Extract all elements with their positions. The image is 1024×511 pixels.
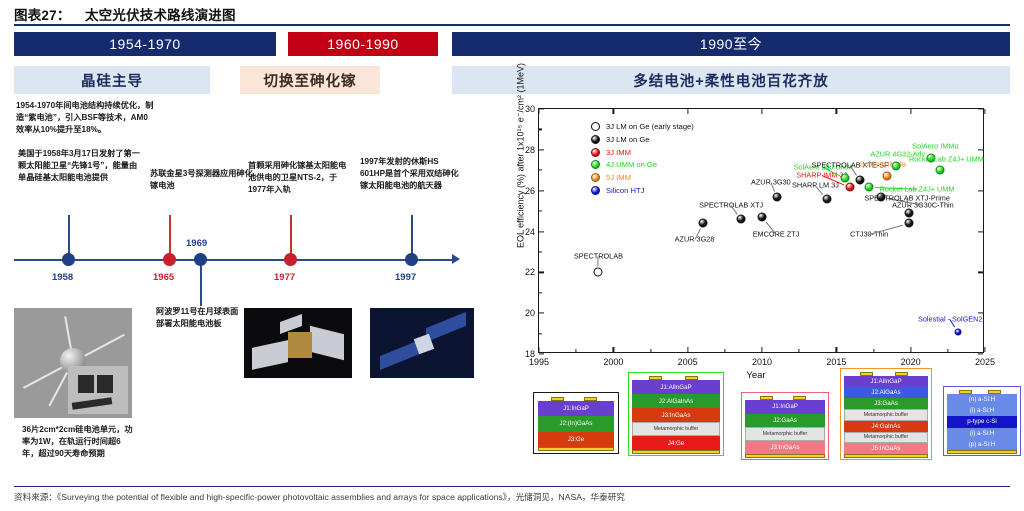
source-prefix: 资料来源： xyxy=(14,492,57,502)
chart-x-tick-mark xyxy=(984,109,985,114)
timeline-arrow-icon xyxy=(452,254,460,264)
chart-x-tick-mark xyxy=(538,347,539,352)
note-1965: 苏联金星3号探测器应用砷化镓电池 xyxy=(150,168,258,192)
title-divider xyxy=(14,24,1010,26)
chart-x-tick-mark xyxy=(687,347,688,352)
chart-legend-item: Silicon HTJ xyxy=(591,184,694,196)
figure-label: 图表27： xyxy=(14,8,71,23)
chart-legend-marker xyxy=(591,186,600,195)
chart-x-tick-mark xyxy=(910,347,911,352)
timeline-dot-1958 xyxy=(62,253,75,266)
chart-y-tick-mark xyxy=(539,190,544,191)
chart-y-tick-minor xyxy=(539,251,542,252)
era-bar-1: 1954-1970 xyxy=(14,32,276,56)
chart-y-tick-minor xyxy=(539,129,542,130)
chart-y-tick-mark xyxy=(539,353,544,354)
note-apollo: 阿波罗11号在月球表面部署太阳能电池板 xyxy=(156,306,242,330)
source-citation: 《Surveying the potential of flexible and… xyxy=(57,492,507,502)
timeline-dot-1997 xyxy=(405,253,418,266)
chart-y-tick-mark xyxy=(978,149,983,150)
chart-y-tick-mark xyxy=(978,231,983,232)
chart-y-tick-mark xyxy=(978,272,983,273)
chart-x-tick-mark xyxy=(538,109,539,114)
timeline-year-1969: 1969 xyxy=(186,238,207,249)
cell-stack-layers xyxy=(841,369,931,459)
chart-y-tick-mark xyxy=(539,108,544,109)
chart-x-tick-label: 2020 xyxy=(901,357,921,367)
chart-x-tick-mark xyxy=(613,109,614,114)
chart-point-label: Rocket Lab Z4J+ UMM xyxy=(909,155,984,164)
chart-data-point xyxy=(856,176,865,185)
chart-y-tick-minor xyxy=(539,170,542,171)
chart-data-point xyxy=(905,219,914,228)
chart-x-tick-label: 2010 xyxy=(752,357,772,367)
photo-vanguard-satellite xyxy=(14,308,132,418)
chart-legend-label: 4J UMM on Ge xyxy=(606,160,657,169)
chart-plot-area: 3J LM on Ge (early stage)3J LM on Ge3J I… xyxy=(538,108,984,353)
chart-data-point xyxy=(841,174,850,183)
chart-x-tick-mark xyxy=(761,109,762,114)
chart-y-tick-label: 28 xyxy=(525,145,535,155)
note-1958: 美国于1958年3月17日发射了第一颗太阳能卫星“先锋1号”，能量由单晶硅基太阳… xyxy=(18,148,140,184)
chart-data-point xyxy=(845,182,854,191)
chart-legend-marker xyxy=(591,135,600,144)
timeline-dot-1977 xyxy=(284,253,297,266)
photo-solar-cell-inset xyxy=(68,366,128,414)
timeline-year-1977: 1977 xyxy=(274,272,295,283)
chart-legend-label: 3J LM on Ge (early stage) xyxy=(606,122,694,131)
chart-y-tick-minor xyxy=(539,210,542,211)
chart-y-tick-mark xyxy=(978,190,983,191)
chart-x-tick-minor xyxy=(724,349,725,352)
chart-x-tick-mark xyxy=(613,347,614,352)
chart-x-tick-mark xyxy=(836,347,837,352)
era-theme-3: 多结电池+柔性电池百花齐放 xyxy=(452,66,1010,94)
chart-legend-label: 3J LM on Ge xyxy=(606,135,649,144)
note-1977: 首颗采用砷化镓基太阳能电池供电的卫星NTS-2，于1977年入轨 xyxy=(248,160,348,196)
chart-x-tick-minor xyxy=(873,349,874,352)
cell-stack-layers xyxy=(629,373,723,455)
chart-legend-item: 4J UMM on Ge xyxy=(591,159,694,171)
chart-x-tick-label: 2005 xyxy=(678,357,698,367)
chart-y-tick-mark xyxy=(539,272,544,273)
chart-data-point xyxy=(698,219,707,228)
chart-y-tick-mark xyxy=(978,108,983,109)
chart-legend-marker xyxy=(591,122,600,131)
chart-data-point xyxy=(823,194,832,203)
chart-legend-label: 3J IMM xyxy=(606,148,631,157)
chart-data-point xyxy=(936,166,945,175)
chart-x-tick-minor xyxy=(799,349,800,352)
cell-stack-layers xyxy=(742,393,828,459)
chart-x-tick-minor xyxy=(576,349,577,352)
era-theme-2: 切换至砷化镓 xyxy=(240,66,380,94)
cell-stack-layers xyxy=(944,387,1020,455)
chart-data-point xyxy=(955,328,962,335)
eol-efficiency-chart: EOL efficiency (%) after 1x10¹⁵ e⁻/cm² (… xyxy=(492,100,1020,390)
chart-x-tick-minor xyxy=(947,349,948,352)
chart-y-tick-mark xyxy=(539,313,544,314)
chart-x-tick-label: 1995 xyxy=(529,357,549,367)
era-bar-3: 1990至今 xyxy=(452,32,1010,56)
footer-divider xyxy=(14,486,1010,487)
note-1954: 1954-1970年间电池结构持续优化，制造“紫电池”，引入BSF等技术，AM0… xyxy=(16,100,156,136)
chart-data-point xyxy=(882,172,891,181)
chart-x-tick-mark xyxy=(687,109,688,114)
era-theme-1: 晶硅主导 xyxy=(14,66,210,94)
chart-x-tick-mark xyxy=(984,347,985,352)
timeline-stem-1969 xyxy=(200,260,202,306)
chart-legend-marker xyxy=(591,160,600,169)
timeline-year-1965: 1965 xyxy=(153,272,174,283)
source-footer: 资料来源：《Surveying the potential of flexibl… xyxy=(14,491,625,503)
chart-data-point xyxy=(758,213,767,222)
cell-stack-5j-imm: J1:AlInGaPJ2:AlGaAsJ3:GaAsMetamorphic bu… xyxy=(840,368,932,460)
chart-data-point xyxy=(891,162,900,171)
chart-data-point xyxy=(594,268,603,277)
timeline-dot-1965 xyxy=(163,253,176,266)
chart-data-point xyxy=(905,209,914,218)
source-list: ，光储洞见，NASA，华泰研究 xyxy=(507,492,625,502)
chart-legend-marker xyxy=(591,173,600,182)
timeline-year-1958: 1958 xyxy=(52,272,73,283)
note-vanguard-caption: 36片2cm*2cm硅电池单元，功率为1W，在轨运行时间超6年，超过90天寿命预… xyxy=(22,424,136,460)
chart-legend-item: 3J IMM xyxy=(591,146,694,158)
chart-x-tick-label: 2015 xyxy=(826,357,846,367)
photo-apollo-deployment xyxy=(244,308,352,378)
chart-legend-item: 3J LM on Ge xyxy=(591,134,694,146)
chart-y-tick-mark xyxy=(539,149,544,150)
cell-stack-4j-umm-on-ge: J1:AlInGaPJ2:AlGaInAsJ3:InGaAsMetamorphi… xyxy=(628,372,724,456)
chart-y-tick-minor xyxy=(539,292,542,293)
chart-legend-marker xyxy=(591,148,600,157)
chart-data-point xyxy=(772,192,781,201)
cell-stack-3j-lm-on-ge: J1:InGaPJ2:(In)GaAsJ3:Ge xyxy=(533,392,619,454)
chart-legend-label: 5J IMM xyxy=(606,173,631,182)
timeline-dot-1969 xyxy=(194,253,207,266)
chart-x-tick-mark xyxy=(761,347,762,352)
chart-legend-item: 3J LM on Ge (early stage) xyxy=(591,121,694,133)
chart-y-tick-label: 20 xyxy=(525,308,535,318)
chart-x-tick-minor xyxy=(650,349,651,352)
chart-x-tick-mark xyxy=(836,109,837,114)
chart-y-tick-label: 24 xyxy=(525,227,535,237)
chart-y-tick-minor xyxy=(539,333,542,334)
timeline-year-1997: 1997 xyxy=(395,272,416,283)
photo-hs601hp-satellite xyxy=(370,308,474,378)
cell-stack-silicon-htj: (n) a-Si:H(i) a-Si:Hp-type c-Si(i) a-Si:… xyxy=(943,386,1021,456)
chart-x-tick-mark xyxy=(910,109,911,114)
note-1997: 1997年发射的休斯HS 601HP是首个采用双结砷化镓太阳能电池的航天器 xyxy=(360,156,464,192)
chart-x-tick-label: 2000 xyxy=(603,357,623,367)
cell-stack-layers xyxy=(534,393,618,453)
chart-y-tick-label: 22 xyxy=(525,267,535,277)
chart-legend-item: 5J IMM xyxy=(591,172,694,184)
timeline-axis xyxy=(14,259,454,261)
chart-point-label: SolAero IMMα xyxy=(912,142,958,151)
figure-title: 太空光伏技术路线演进图 xyxy=(85,8,236,23)
cell-stack-3j-imm: J1:InGaPJ2:GaAsMetamorphic bufferJ3:InGa… xyxy=(741,392,829,460)
chart-x-axis-label: Year xyxy=(492,370,1020,381)
page-title: 图表27： 太空光伏技术路线演进图 xyxy=(14,4,1010,26)
era-bar-2: 1960-1990 xyxy=(288,32,438,56)
chart-legend: 3J LM on Ge (early stage)3J LM on Ge3J I… xyxy=(591,121,694,197)
chart-data-point xyxy=(737,215,746,224)
figure-root: 图表27： 太空光伏技术路线演进图 1954-1970 1960-1990 19… xyxy=(0,0,1024,511)
chart-y-tick-mark xyxy=(539,231,544,232)
chart-y-axis-label: EOL efficiency (%) after 1x10¹⁵ e⁻/cm² (… xyxy=(516,31,527,281)
chart-legend-label: Silicon HTJ xyxy=(606,186,644,195)
chart-y-tick-mark xyxy=(978,353,983,354)
chart-data-point xyxy=(865,182,874,191)
chart-y-tick-label: 30 xyxy=(525,104,535,114)
chart-point-label: SPECTROLAB xyxy=(574,252,623,261)
chart-x-tick-label: 2025 xyxy=(975,357,995,367)
chart-y-tick-label: 26 xyxy=(525,186,535,196)
